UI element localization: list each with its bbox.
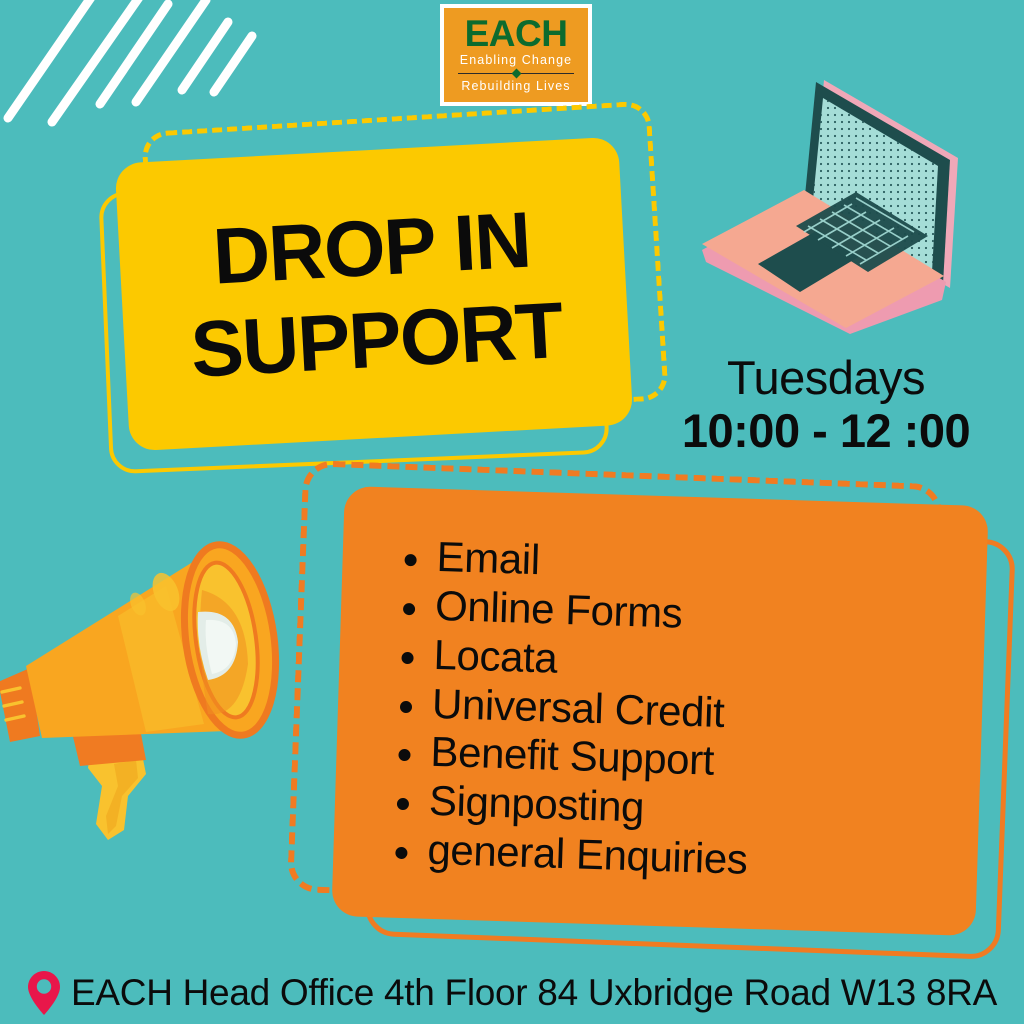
services-card: Email Online Forms Locata Universal Cred…	[331, 486, 988, 936]
diagonal-stripes-icon	[0, 0, 260, 140]
services-list: Email Online Forms Locata Universal Cred…	[391, 532, 758, 884]
headline-line-2: SUPPORT	[189, 284, 565, 396]
megaphone-icon	[0, 528, 306, 868]
schedule-time: 10:00 - 12 :00	[628, 405, 1024, 458]
schedule-day: Tuesdays	[628, 352, 1024, 405]
map-pin-icon	[27, 970, 61, 1016]
poster-canvas: EACH Enabling Change Rebuilding Lives	[0, 0, 1024, 1024]
logo-divider	[458, 69, 574, 78]
logo-tagline-bottom: Rebuilding Lives	[461, 79, 570, 93]
logo-tagline-top: Enabling Change	[460, 53, 572, 67]
laptop-icon	[700, 78, 1000, 340]
headline-line-1: DROP IN	[211, 194, 533, 303]
footer-address-block: EACH Head Office 4th Floor 84 Uxbridge R…	[0, 970, 1024, 1016]
schedule-block: Tuesdays 10:00 - 12 :00	[628, 352, 1024, 457]
headline-card: DROP IN SUPPORT	[115, 137, 634, 452]
footer-address: EACH Head Office 4th Floor 84 Uxbridge R…	[71, 972, 997, 1014]
each-logo: EACH Enabling Change Rebuilding Lives	[440, 4, 592, 106]
logo-diamond-icon	[511, 68, 521, 78]
list-item: general Enquiries	[391, 824, 748, 884]
logo-name: EACH	[465, 15, 568, 52]
